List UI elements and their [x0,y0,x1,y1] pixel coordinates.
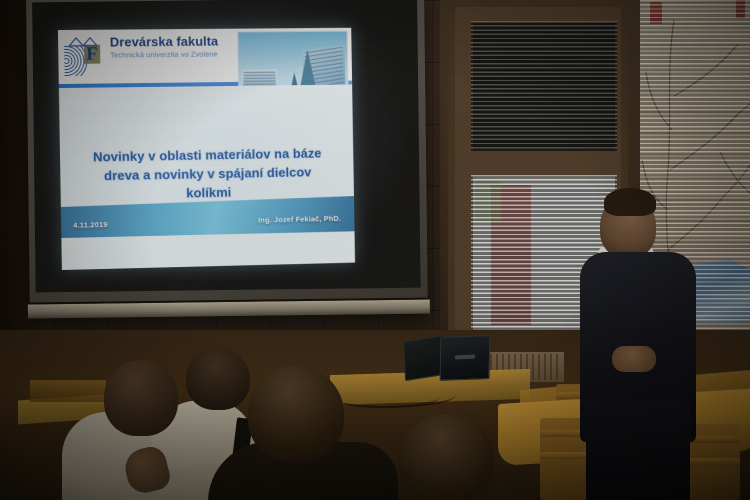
slide-body: Novinky v oblasti materiálov na báze dre… [59,85,355,239]
student-foreground-right-head [248,366,344,462]
slide-header: F Drevárska fakulta Technická univerzita… [58,28,352,84]
presentation-author: Ing. Jozef Fekiač, PhD. [258,214,341,225]
presenter-hair [604,188,656,216]
presentation-slide: F Drevárska fakulta Technická univerzita… [58,28,355,270]
blinds-upper [471,21,617,151]
presentation-date: 4.11.2019 [73,220,108,230]
projection-surface: F Drevárska fakulta Technická univerzita… [32,0,421,292]
laptop-right [440,335,491,381]
roofline-icon [68,36,98,47]
drevarska-fakulta-logo: F [64,34,109,80]
projection-screen: F Drevárska fakulta Technická univerzita… [26,0,428,318]
chair-left [30,380,106,402]
logo-letter-f: F [86,45,99,64]
presenter-hands [612,346,656,372]
window-upper-pane [471,21,617,151]
photo-scene: F Drevárska fakulta Technická univerzita… [0,0,750,500]
presenter-trousers [586,400,690,500]
student-foreground-left-head [104,360,178,436]
student-foreground-center-head [186,348,250,410]
student-near-laptops-head [398,414,494,500]
slide-title: Novinky v oblasti materiálov na báze dre… [70,143,345,204]
